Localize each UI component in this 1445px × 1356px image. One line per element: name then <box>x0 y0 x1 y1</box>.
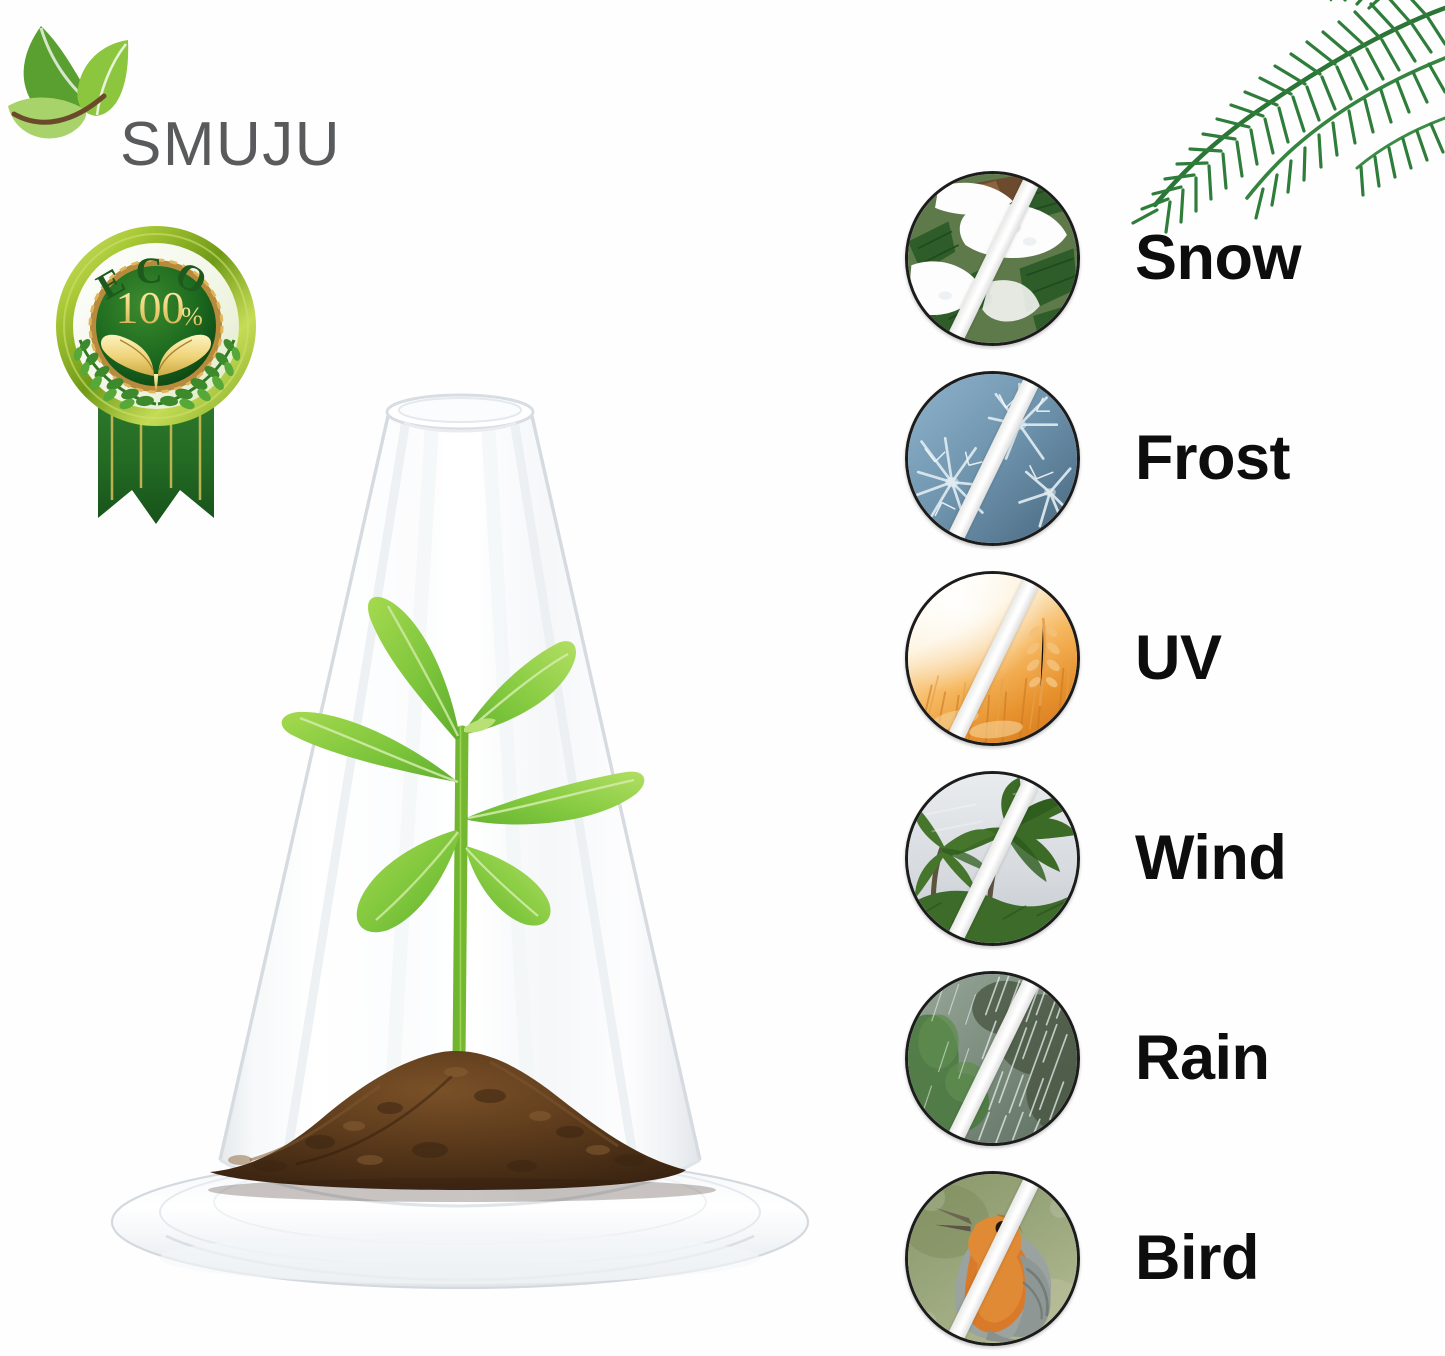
feature-row-uv: UV <box>905 568 1435 748</box>
feature-row-snow: Snow <box>905 168 1435 348</box>
brand-logo: SMUJU <box>8 18 353 168</box>
product-marketing-image: SMUJU <box>0 0 1445 1356</box>
feature-label-frost: Frost <box>1135 427 1290 490</box>
snow-covered-pine-icon <box>905 171 1080 346</box>
robin-bird-icon <box>905 1171 1080 1346</box>
frost-crystals-icon <box>905 371 1080 546</box>
product-photo <box>70 360 850 1320</box>
top-vent-opening-icon <box>387 395 533 431</box>
feature-row-frost: Frost <box>905 368 1435 548</box>
feature-label-bird: Bird <box>1135 1227 1259 1290</box>
eco-percent-unit: % <box>181 302 203 331</box>
feature-label-wind: Wind <box>1135 827 1286 890</box>
feature-label-rain: Rain <box>1135 1027 1270 1090</box>
feature-label-snow: Snow <box>1135 227 1301 290</box>
brand-name: SMUJU <box>120 114 341 176</box>
feature-label-uv: UV <box>1135 627 1222 690</box>
three-leaf-icon <box>8 18 133 158</box>
feature-row-wind: Wind <box>905 768 1435 948</box>
protection-feature-list: Snow <box>905 168 1435 1353</box>
windblown-palms-icon <box>905 771 1080 946</box>
feature-row-rain: Rain <box>905 968 1435 1148</box>
feature-row-bird: Bird <box>905 1168 1435 1348</box>
eco-percent-value: 100 <box>116 282 185 333</box>
uv-sunlit-field-icon <box>905 571 1080 746</box>
rainfall-icon <box>905 971 1080 1146</box>
